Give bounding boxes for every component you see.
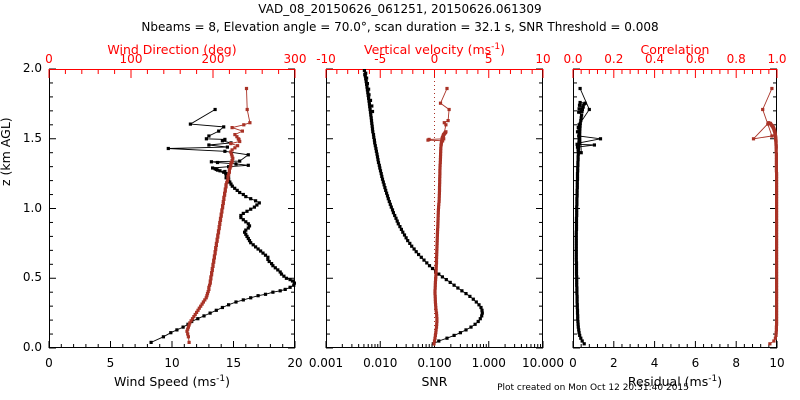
figure-title-line1: VAD_08_20150626_061251, 20150626.061309 — [0, 2, 800, 16]
axis-tick-label: 200 — [173, 52, 253, 66]
panel-wind — [49, 69, 295, 348]
panel-wind-bottom-axis-title: Wind Speed (ms-1) — [49, 374, 295, 389]
series-snr — [363, 69, 484, 345]
axis-tick-label: 0 — [9, 52, 89, 66]
y-axis-tick-label: 1.5 — [8, 131, 42, 145]
y-axis-tick-label: 1.0 — [8, 201, 42, 215]
axis-tick-label: 10 — [737, 356, 800, 370]
series-vertical-velocity — [426, 87, 450, 346]
panel-residual-bottom-axis-title: Residual (ms-1) — [573, 374, 777, 389]
panel-residual-plot-area — [573, 69, 777, 348]
y-axis-tick-label: 0.5 — [8, 270, 42, 284]
axis-tick-label: 100 — [91, 52, 171, 66]
series-residual — [575, 87, 602, 346]
panel-snr — [326, 69, 543, 348]
y-axis-label: z (km AGL) — [0, 117, 13, 186]
panel-snr-plot-area — [326, 69, 543, 348]
figure-title-line2: Nbeams = 8, Elevation angle = 70.0°, sca… — [0, 20, 800, 34]
y-axis-tick-label: 0.0 — [8, 340, 42, 354]
vad-plot-figure: VAD_08_20150626_061251, 20150626.061309 … — [0, 0, 800, 400]
panel-snr-bottom-axis-title: SNR — [326, 374, 543, 389]
panel-wind-plot-area — [49, 69, 295, 348]
axis-tick-label: 1.0 — [737, 52, 800, 66]
series-wind-speed — [150, 108, 297, 344]
panel-residual — [573, 69, 777, 348]
